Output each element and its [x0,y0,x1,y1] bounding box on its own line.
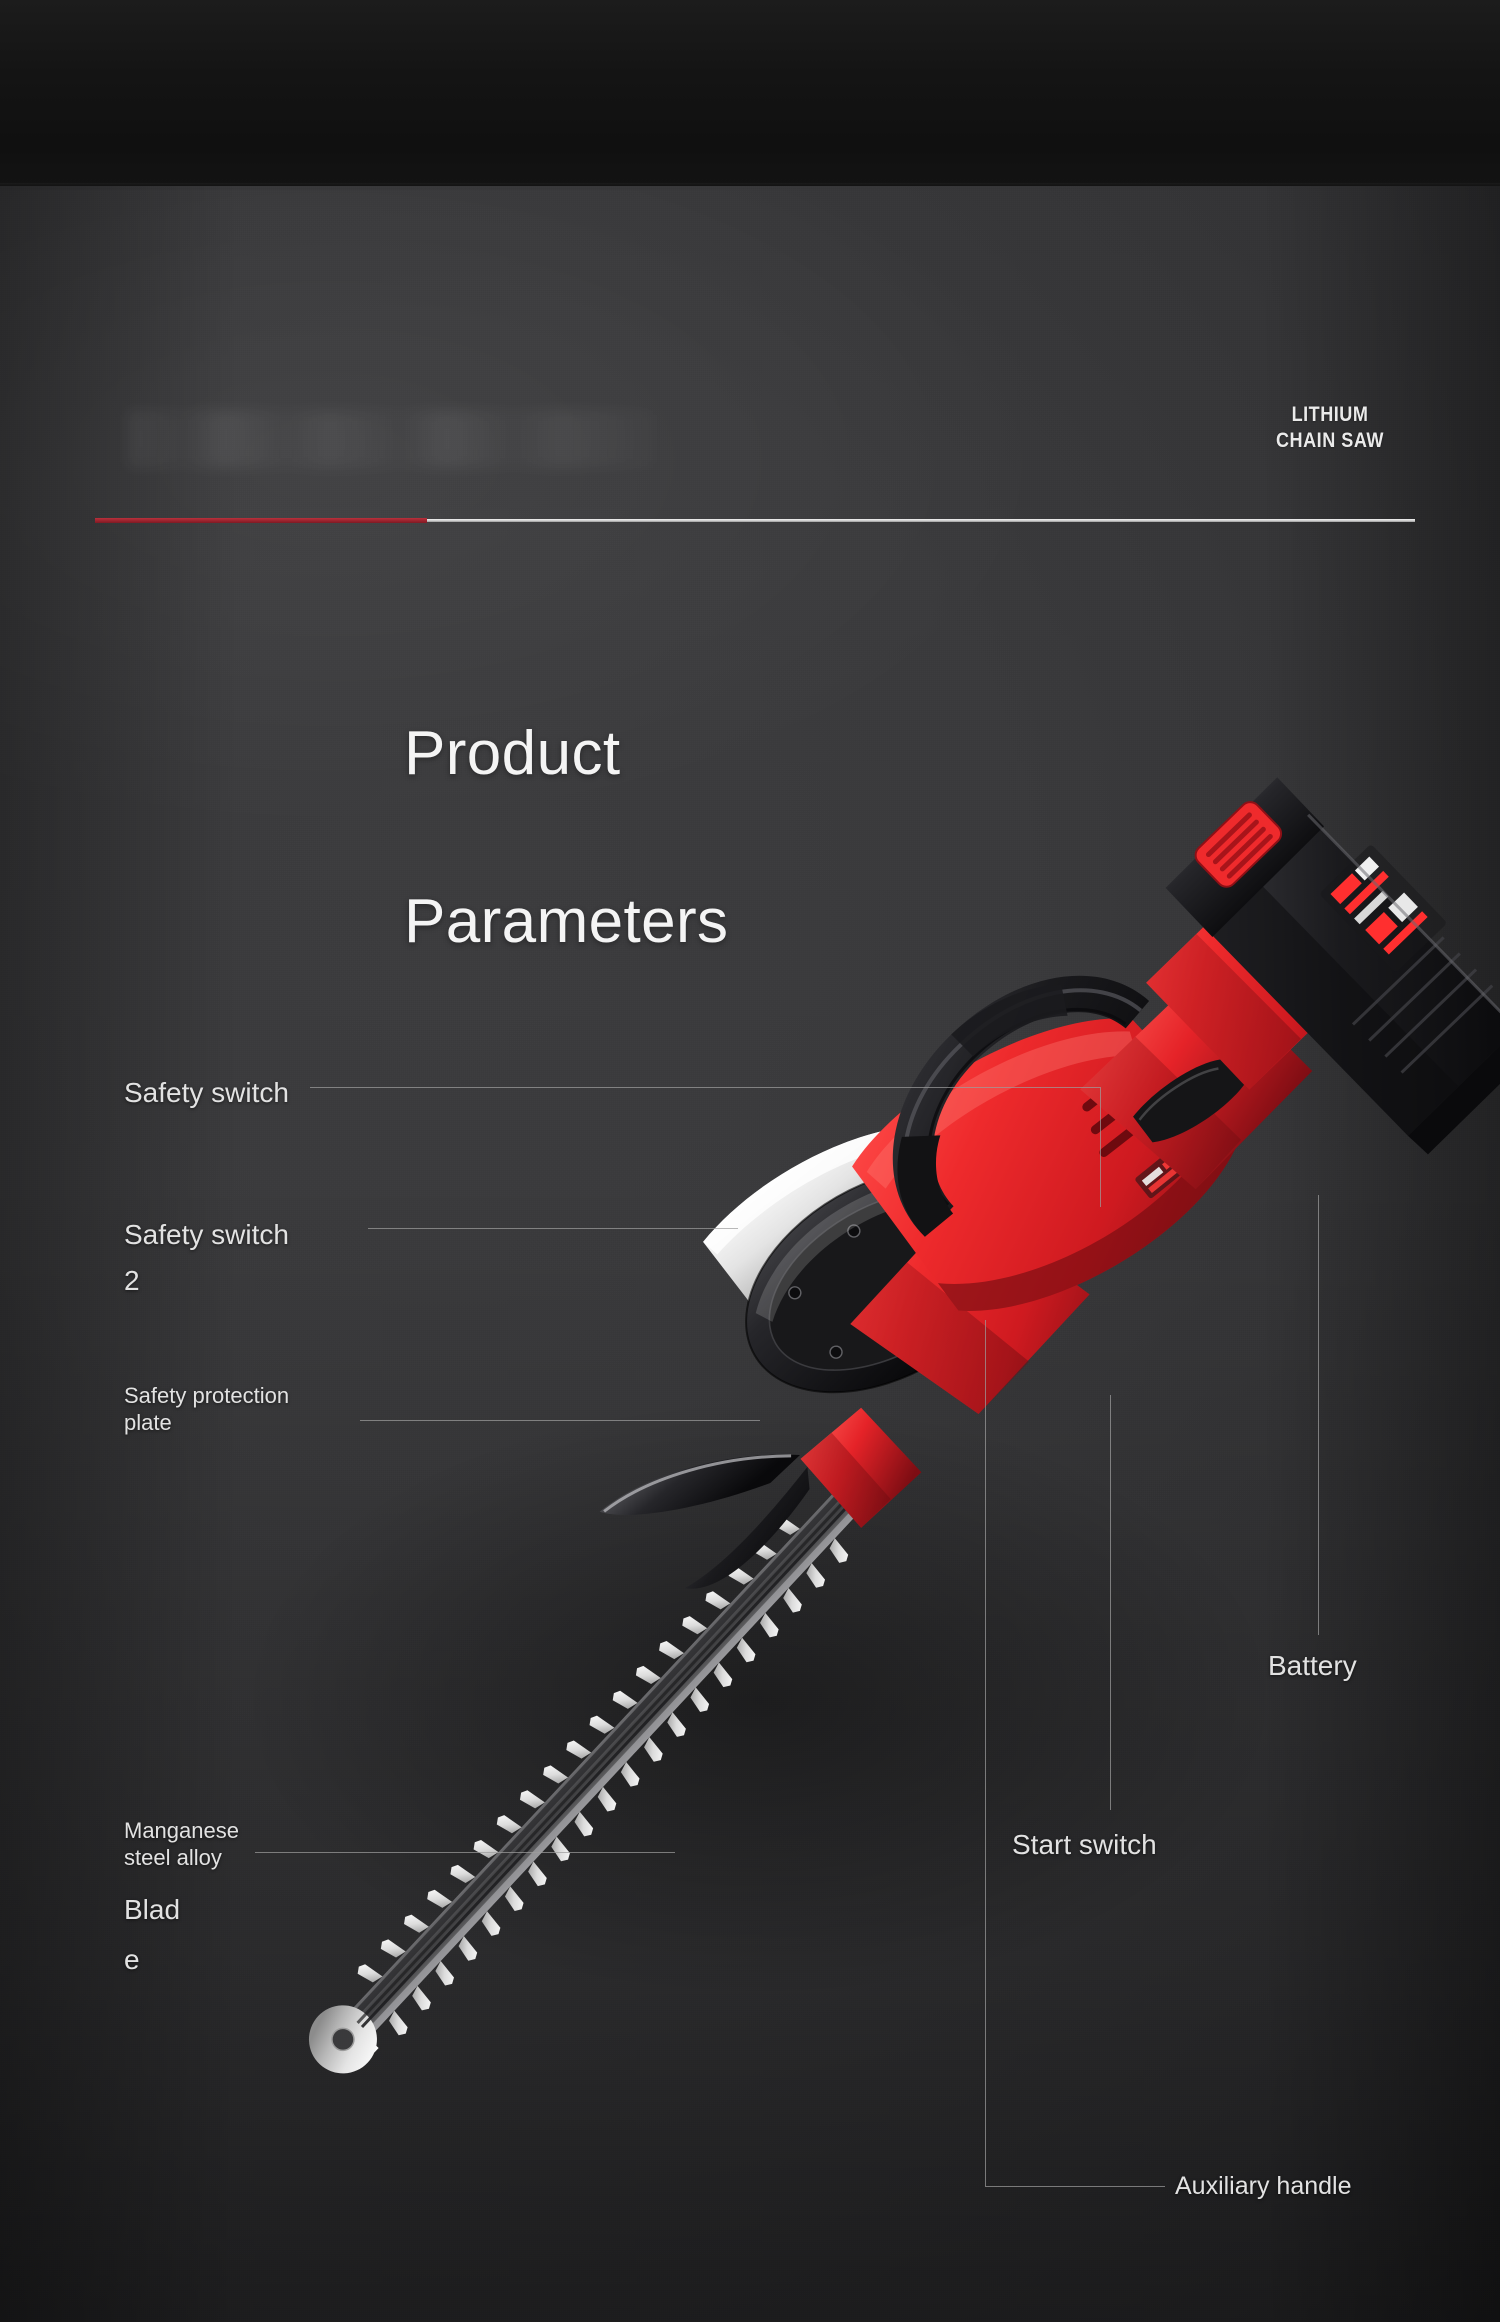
callout-safety-switch-2: Safety switch 2 [124,1212,289,1304]
divider-white-segment [427,519,1415,522]
callout-start-switch: Start switch [1012,1822,1157,1868]
leader-line-safety-switch-horizontal [310,1087,1100,1088]
brand-logo-redacted [128,410,656,468]
top-black-band [0,0,1500,186]
divider-red-segment [95,518,427,523]
leader-line-auxiliary-handle-vertical [985,1320,986,2186]
page-title-line1: Product [404,718,620,789]
callout-blade-material: Manganese steel alloy [124,1817,239,1871]
product-category-label: LITHIUM CHAIN SAW [1253,402,1408,454]
header-divider [95,518,1415,523]
callout-safety-protection-plate: Safety protection plate [124,1382,289,1436]
leader-line-start-switch [1110,1395,1111,1810]
callout-auxiliary-handle: Auxiliary handle [1175,2163,1352,2209]
leader-line-safety-switch-vertical [1100,1087,1101,1207]
product-parameters-infographic: LITHIUM CHAIN SAW Product Parameters [0,0,1500,2322]
leader-line-safety-protection-plate [360,1420,760,1421]
leader-line-auxiliary-handle-horizontal [985,2186,1165,2187]
leader-line-battery [1318,1195,1319,1635]
leader-line-blade [255,1852,675,1853]
callout-safety-switch: Safety switch [124,1070,289,1116]
callout-battery: Battery [1268,1643,1357,1689]
background-vignette [0,0,1500,2322]
product-category-line1: LITHIUM [1253,402,1408,428]
page-title-line2: Parameters [404,886,728,957]
product-category-line2: CHAIN SAW [1253,428,1408,454]
leader-line-safety-switch-2 [368,1228,738,1229]
callout-blade: Blad e [124,1885,180,1985]
